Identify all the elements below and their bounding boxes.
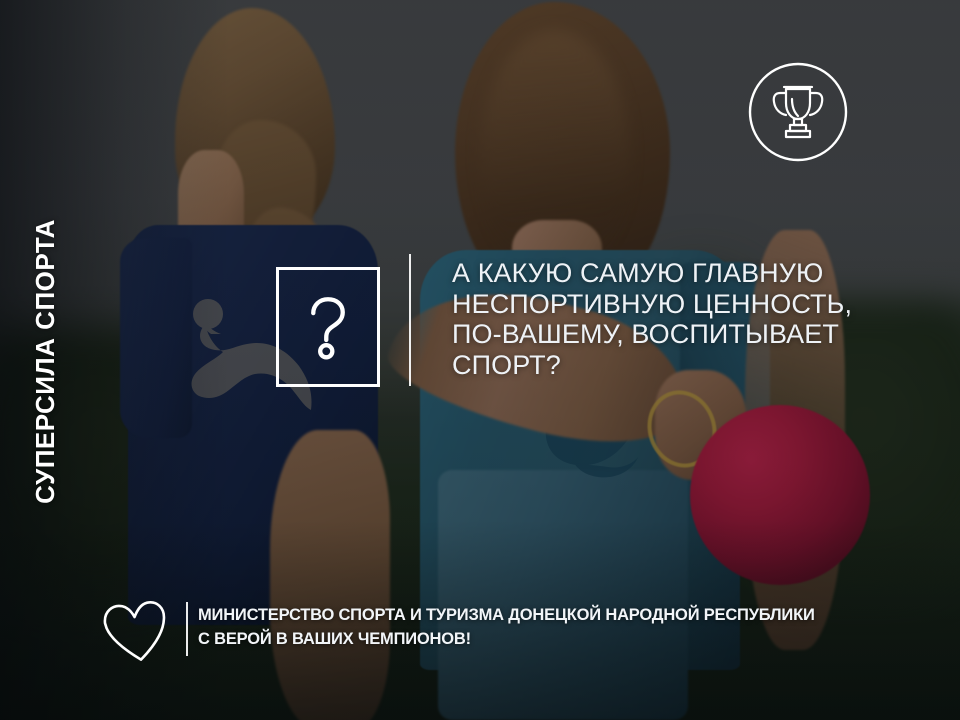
poster-canvas: СУПЕРСИЛА СПОРТА А КАКУЮ СА xyxy=(0,0,960,720)
question-line-4: СПОРТ? xyxy=(452,350,922,381)
trophy-icon xyxy=(748,62,848,162)
vertical-brand-text: СУПЕРСИЛА СПОРТА xyxy=(30,219,61,504)
question-line-2: НЕСПОРТИВНУЮ ЦЕННОСТЬ, xyxy=(452,289,922,320)
question-line-1: А КАКУЮ САМУЮ ГЛАВНУЮ xyxy=(452,258,922,289)
question-mark-box xyxy=(276,267,380,387)
vertical-brand-label: СУПЕРСИЛА СПОРТА xyxy=(20,186,70,536)
footer-text-block: МИНИСТЕРСТВО СПОРТА И ТУРИЗМА ДОНЕЦКОЙ Н… xyxy=(198,603,938,651)
heart-icon xyxy=(100,598,172,664)
question-line-3: ПО-ВАШЕМУ, ВОСПИТЫВАЕТ xyxy=(452,319,922,350)
footer-line-2: С ВЕРОЙ В ВАШИХ ЧЕМПИОНОВ! xyxy=(198,627,938,651)
footer-divider-line xyxy=(186,602,188,656)
footer-line-1: МИНИСТЕРСТВО СПОРТА И ТУРИЗМА ДОНЕЦКОЙ Н… xyxy=(198,603,938,627)
question-text-block: А КАКУЮ САМУЮ ГЛАВНУЮ НЕСПОРТИВНУЮ ЦЕННО… xyxy=(452,258,922,380)
question-divider-line xyxy=(409,254,411,386)
overlay-layer: СУПЕРСИЛА СПОРТА А КАКУЮ СА xyxy=(0,0,960,720)
